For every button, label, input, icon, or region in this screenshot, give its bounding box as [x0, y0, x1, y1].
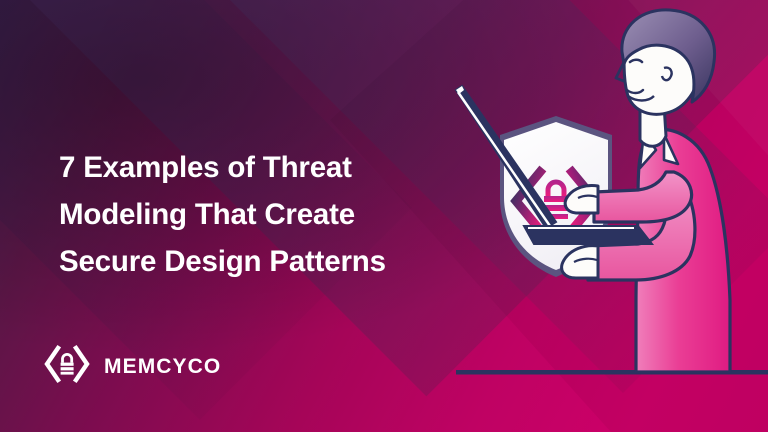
brand-logo[interactable]: MEMCYCO — [44, 344, 221, 389]
memcyco-bracket-lock-icon — [44, 344, 90, 389]
page-title: 7 Examples of Threat Modeling That Creat… — [59, 144, 479, 285]
blog-banner: 7 Examples of Threat Modeling That Creat… — [0, 0, 768, 432]
hero-illustration — [438, 0, 768, 432]
person-using-laptop — [562, 10, 730, 372]
brand-wordmark: MEMCYCO — [104, 355, 221, 379]
